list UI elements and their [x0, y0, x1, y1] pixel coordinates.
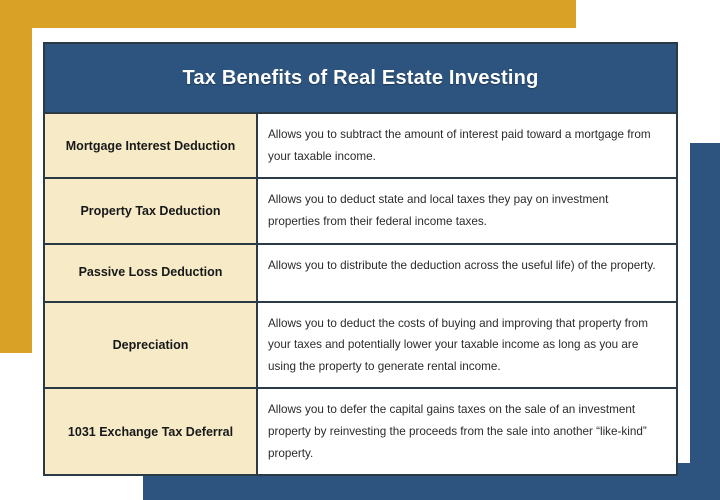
- benefit-label: Passive Loss Deduction: [45, 245, 258, 301]
- benefit-label: 1031 Exchange Tax Deferral: [45, 389, 258, 474]
- gold-top-bar-decoration: [0, 0, 576, 28]
- navy-right-bar-decoration: [690, 143, 720, 500]
- benefit-description: Allows you to deduct state and local tax…: [268, 189, 662, 232]
- table-row: Depreciation Allows you to deduct the co…: [45, 301, 676, 388]
- table-row: Passive Loss Deduction Allows you to dis…: [45, 243, 676, 301]
- table-row: Property Tax Deduction Allows you to ded…: [45, 177, 676, 242]
- benefit-description-cell: Allows you to subtract the amount of int…: [258, 114, 676, 177]
- benefit-label: Depreciation: [45, 303, 258, 388]
- benefit-description-cell: Allows you to defer the capital gains ta…: [258, 389, 676, 474]
- benefit-description-cell: Allows you to deduct state and local tax…: [258, 179, 676, 242]
- benefit-description-cell: Allows you to distribute the deduction a…: [258, 245, 676, 301]
- benefit-label: Property Tax Deduction: [45, 179, 258, 242]
- infographic-canvas: Tax Benefits of Real Estate Investing Mo…: [0, 0, 720, 500]
- benefit-description-cell: Allows you to deduct the costs of buying…: [258, 303, 676, 388]
- page-title: Tax Benefits of Real Estate Investing: [182, 67, 538, 90]
- benefit-description: Allows you to subtract the amount of int…: [268, 124, 662, 167]
- table-header: Tax Benefits of Real Estate Investing: [45, 44, 676, 112]
- benefit-description: Allows you to defer the capital gains ta…: [268, 399, 662, 464]
- benefit-description: Allows you to distribute the deduction a…: [268, 255, 656, 277]
- benefit-label: Mortgage Interest Deduction: [45, 114, 258, 177]
- table-row: 1031 Exchange Tax Deferral Allows you to…: [45, 387, 676, 474]
- gold-left-bar-decoration: [0, 0, 32, 353]
- table-row: Mortgage Interest Deduction Allows you t…: [45, 112, 676, 177]
- benefits-table: Tax Benefits of Real Estate Investing Mo…: [43, 42, 678, 476]
- benefit-description: Allows you to deduct the costs of buying…: [268, 313, 662, 378]
